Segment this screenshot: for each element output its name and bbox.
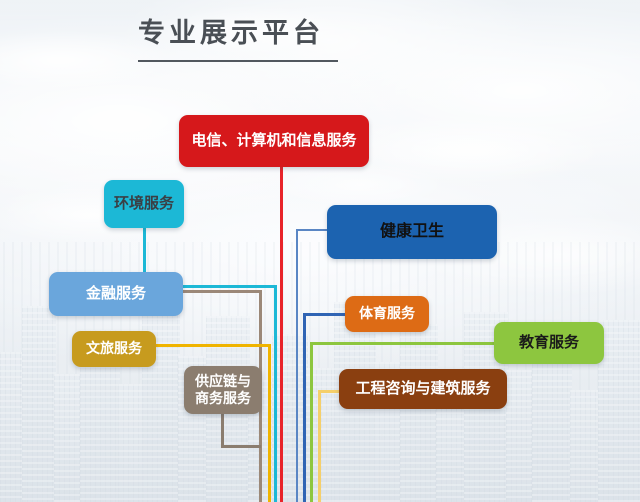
node-culture[interactable]: 文旅服务 (72, 331, 156, 367)
connector-sports-elbow (303, 313, 348, 316)
node-culture-label: 文旅服务 (86, 340, 142, 357)
connector-education-elbow (310, 342, 498, 345)
title-underline (138, 60, 338, 62)
connector-health-elbow (296, 229, 330, 231)
page-title-block: 专业展示平台 (138, 16, 338, 62)
node-education-label: 教育服务 (519, 334, 579, 352)
node-finance[interactable]: 金融服务 (49, 272, 183, 316)
node-telecom[interactable]: 电信、计算机和信息服务 (179, 115, 369, 167)
node-sports[interactable]: 体育服务 (345, 296, 429, 332)
node-environment[interactable]: 环境服务 (104, 180, 184, 228)
node-supplychain[interactable]: 供应链与 商务服务 (184, 366, 262, 414)
page-title: 专业展示平台 (138, 16, 338, 50)
connector-culture-elbow (153, 344, 271, 347)
connector-engineering-drop (318, 390, 321, 502)
connector-education-drop (310, 342, 313, 502)
node-education[interactable]: 教育服务 (494, 322, 604, 364)
connector-environment-drop (274, 285, 277, 502)
connector-supplychain-stem (221, 414, 224, 448)
connector-supplychain-elbow (221, 445, 261, 448)
connector-finance-elbow (180, 290, 262, 293)
node-engineering[interactable]: 工程咨询与建筑服务 (339, 369, 507, 409)
node-health[interactable]: 健康卫生 (327, 205, 497, 259)
connector-culture-drop (268, 344, 271, 502)
node-environment-label: 环境服务 (114, 195, 174, 213)
node-health-label: 健康卫生 (380, 222, 444, 242)
node-finance-label: 金融服务 (86, 285, 146, 303)
connector-health-drop (296, 229, 298, 502)
connector-sports-drop (303, 313, 306, 502)
node-sports-label: 体育服务 (359, 305, 415, 322)
diagram-canvas: 专业展示平台 电信、计算机和信息服务 环境服务 健康卫生 金融服务 体育服务 文… (0, 0, 640, 502)
connector-telecom (280, 167, 283, 502)
node-supplychain-label: 供应链与 商务服务 (195, 373, 251, 407)
node-telecom-label: 电信、计算机和信息服务 (191, 132, 356, 150)
node-engineering-label: 工程咨询与建筑服务 (355, 380, 490, 398)
